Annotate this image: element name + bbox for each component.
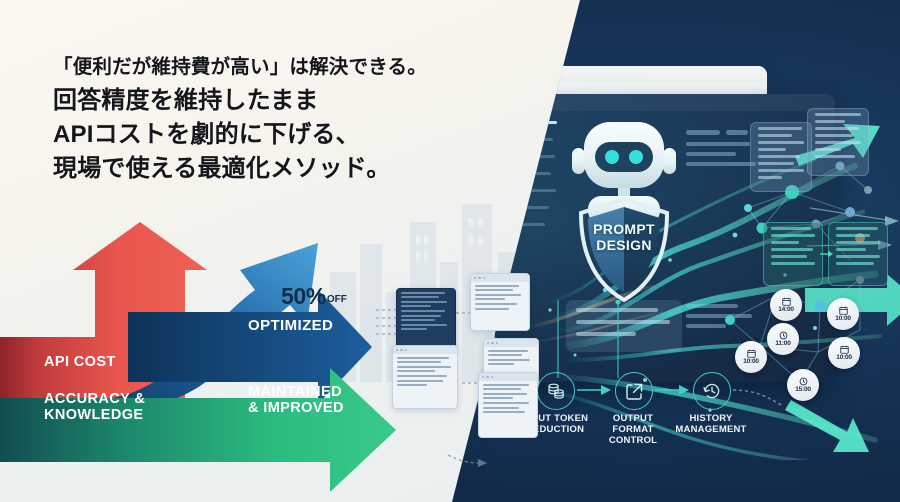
hero-banner: 「便利だが維持費が高い」は解決できる。 回答精度を維持したまま APIコストを劇… — [0, 0, 900, 502]
prompt-design-shield-icon — [578, 198, 670, 302]
process-connector-lines — [540, 300, 670, 382]
process-node-history-management[interactable] — [693, 372, 731, 410]
node-time: 10:00 — [743, 358, 759, 365]
shield-line-2: DESIGN — [578, 238, 670, 254]
document-card — [828, 222, 888, 286]
robot-avatar-icon — [570, 112, 678, 224]
discount-unit: OFF — [327, 294, 347, 305]
node-time: 15:00 — [795, 386, 811, 393]
network-graph-links — [700, 120, 900, 420]
document-window-card — [392, 345, 458, 409]
history-clock-icon — [703, 382, 721, 400]
chat-bubble — [566, 300, 682, 352]
network-node-1500[interactable]: 15:00 — [787, 369, 819, 401]
api-cost-label: API COST — [44, 355, 116, 371]
shield-text: PROMPT DESIGN — [578, 222, 670, 253]
process-arrows — [533, 368, 793, 414]
discount-badge: 50%OFF — [281, 283, 347, 310]
network-node-1000-a[interactable]: 10:00 — [827, 298, 859, 330]
database-icon — [547, 382, 565, 400]
shield-line-1: PROMPT — [578, 222, 670, 238]
chat-line — [576, 320, 670, 324]
process-node-output-format-control[interactable] — [615, 372, 653, 410]
document-window-card — [478, 372, 538, 438]
node-time: 10:00 — [836, 354, 852, 361]
calendar-icon — [840, 345, 849, 354]
node-time: 14:00 — [778, 306, 794, 313]
maintained-label: MAINTAINED & IMPROVED — [248, 385, 344, 416]
node-time: 11:00 — [775, 340, 790, 347]
network-node-1000-c[interactable]: 10:00 — [828, 337, 860, 369]
network-node-1400[interactable]: 14:00 — [770, 289, 802, 321]
calendar-icon — [782, 297, 791, 306]
doc-link-arrow-icon — [820, 248, 834, 260]
external-link-icon — [626, 383, 643, 400]
node-time: 10:00 — [835, 315, 851, 322]
calendar-icon — [747, 349, 756, 358]
network-node-1000-b[interactable]: 10:00 — [735, 341, 767, 373]
optimized-label: OPTIMIZED — [248, 318, 333, 334]
accuracy-label: ACCURACY & KNOWLEDGE — [44, 392, 145, 423]
process-label-output-format-control: OUTPUT FORMAT CONTROL — [585, 414, 681, 446]
network-node-1100[interactable]: 11:00 — [767, 323, 799, 355]
discount-value: 50% — [281, 283, 326, 309]
process-node-input-token-reduction[interactable] — [537, 372, 575, 410]
clock-icon — [799, 377, 808, 386]
chat-line — [576, 332, 636, 336]
chat-line — [576, 308, 658, 312]
calendar-icon — [839, 306, 848, 315]
document-card — [807, 108, 869, 176]
window-content-lines — [686, 126, 816, 346]
document-window-card — [396, 288, 456, 352]
app-window — [495, 94, 835, 382]
process-label-history-management: HISTORY MANAGEMENT — [663, 414, 759, 436]
clock-icon — [779, 331, 788, 340]
document-card — [750, 122, 812, 192]
document-card — [763, 222, 823, 286]
document-window-card — [470, 273, 530, 331]
optimization-process-chain: INPUT TOKEN REDUCTION OUTPUT FORMAT CONT… — [533, 368, 793, 458]
